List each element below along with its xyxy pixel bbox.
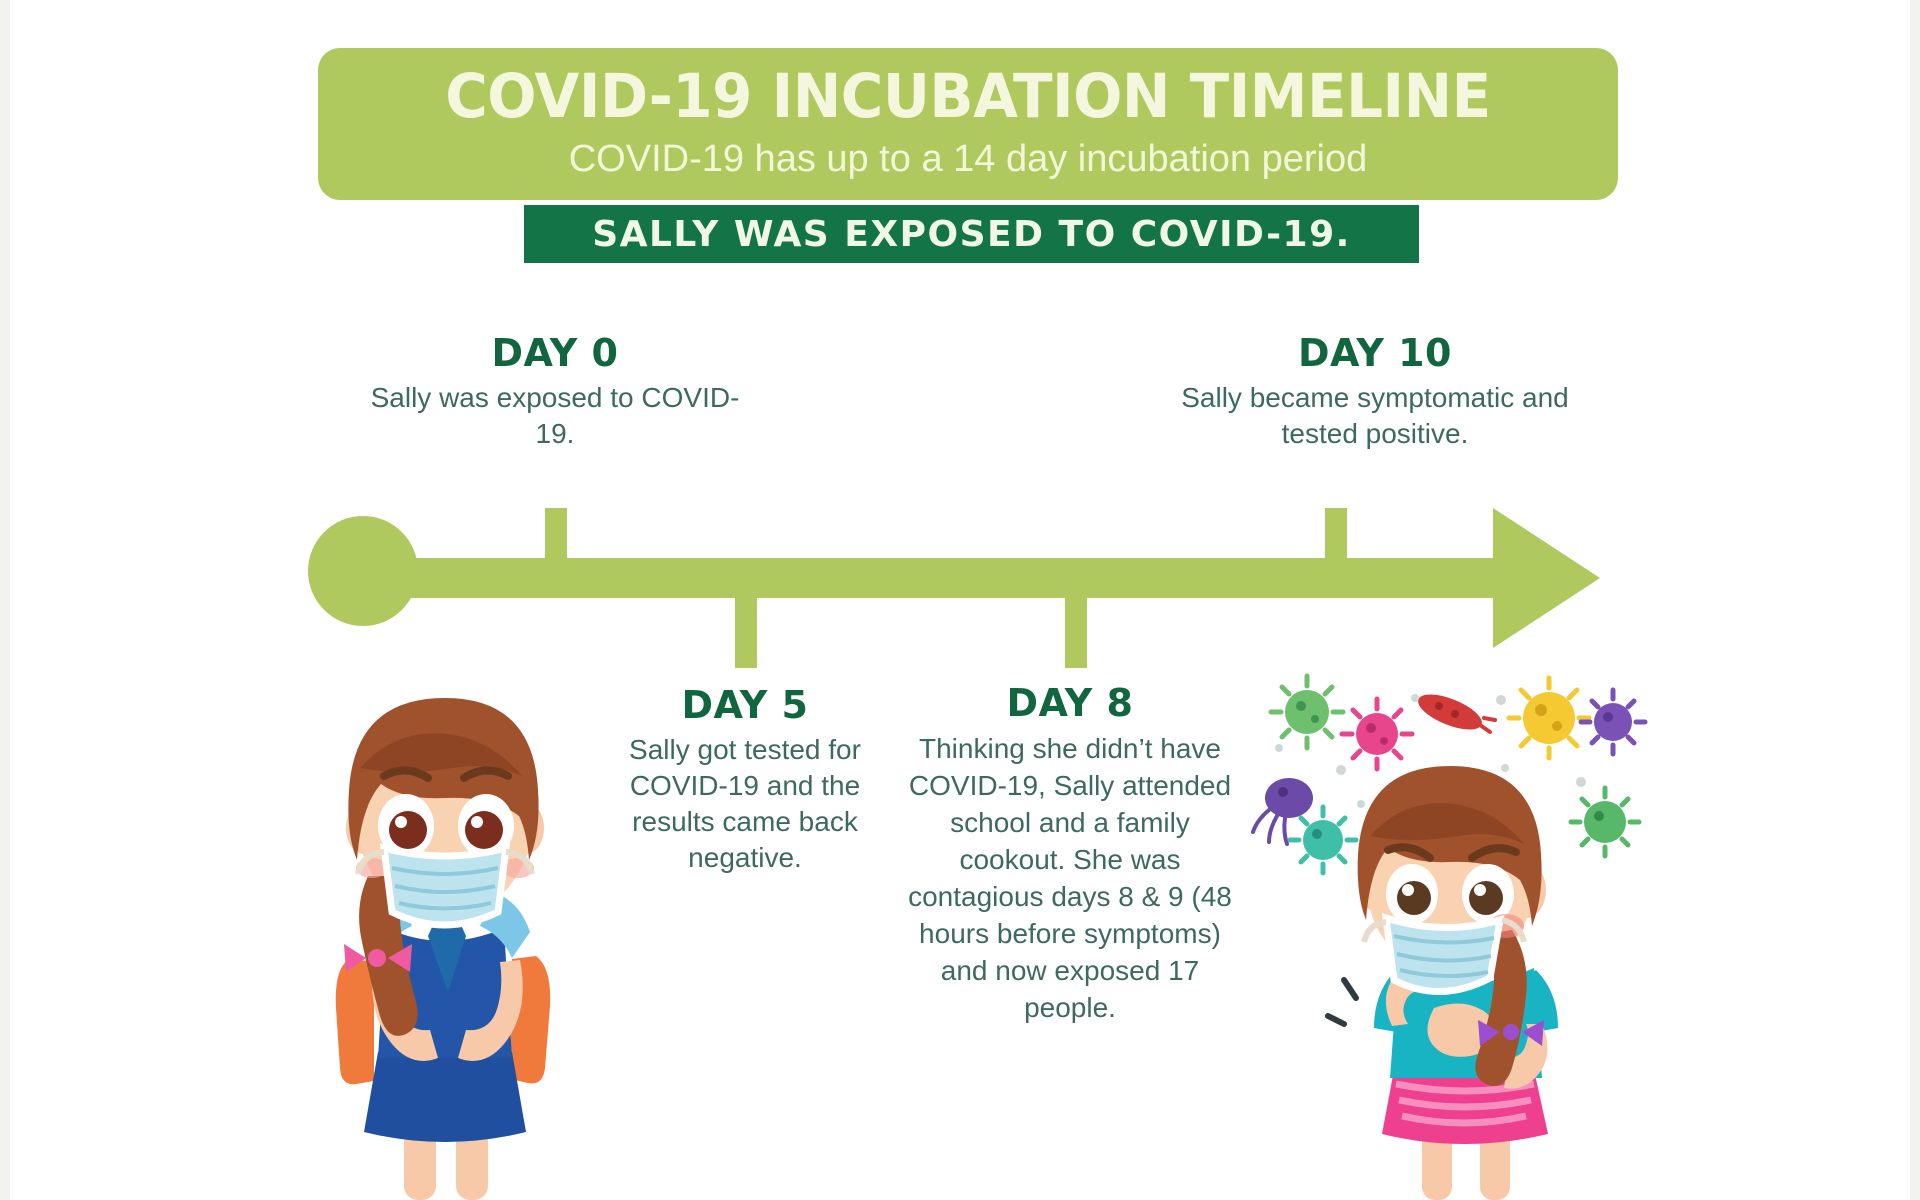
discomfort-lines [1328, 980, 1356, 1024]
right-gutter [1910, 0, 1920, 1200]
day-block-day-8: DAY 8 Thinking she didn’t have COVID-19,… [905, 680, 1235, 1026]
sick-braid-bow-knot [1503, 1024, 1519, 1040]
day-10-body: Sally became symptomatic and tested posi… [1175, 380, 1575, 452]
schoolgirl-illustration [300, 660, 590, 1200]
day-8-title: DAY 8 [905, 680, 1235, 726]
braid-bow-knot [368, 949, 386, 967]
eye-right-iris [465, 811, 503, 849]
sick-eye-left-iris [1397, 881, 1431, 915]
tick-day-10 [1325, 508, 1347, 586]
sick-girl-illustration [1330, 740, 1610, 1200]
sick-eye-right-highlight [1474, 884, 1486, 896]
tick-day-8 [1065, 590, 1087, 668]
exposure-banner: SALLY WAS EXPOSED TO COVID-19. [524, 205, 1419, 263]
eye-right-highlight [471, 816, 483, 828]
skirt [364, 1052, 526, 1142]
germ-green-1 [1271, 676, 1343, 748]
exposure-banner-label: SALLY WAS EXPOSED TO COVID-19. [592, 214, 1351, 255]
timeline-arrowhead [1493, 508, 1600, 648]
day-0-title: DAY 0 [355, 330, 755, 376]
backpack [336, 960, 374, 1084]
eye-left-highlight [395, 816, 407, 828]
title-card: COVID-19 INCUBATION TIMELINE COVID-19 ha… [318, 48, 1618, 200]
sick-eye-right-iris [1469, 881, 1503, 915]
day-10-title: DAY 10 [1175, 330, 1575, 376]
tick-day-0 [545, 508, 567, 586]
eye-left-iris [389, 811, 427, 849]
day-5-title: DAY 5 [590, 682, 900, 728]
day-block-day-10: DAY 10 Sally became symptomatic and test… [1175, 330, 1575, 452]
page-title: COVID-19 INCUBATION TIMELINE [351, 60, 1586, 134]
sick-eye-left-highlight [1402, 884, 1414, 896]
timeline-bar [340, 558, 1500, 598]
day-8-body: Thinking she didn’t have COVID-19, Sally… [905, 730, 1235, 1026]
day-0-body: Sally was exposed to COVID-19. [355, 380, 755, 452]
day-5-body: Sally got tested for COVID-19 and the re… [590, 732, 900, 876]
germ-red-rod [1414, 687, 1495, 737]
page-subtitle: COVID-19 has up to a 14 day incubation p… [318, 134, 1618, 184]
timeline-start-dot [308, 516, 418, 626]
day-block-day-5: DAY 5 Sally got tested for COVID-19 and … [590, 682, 900, 876]
left-gutter [0, 0, 10, 1200]
day-block-day-0: DAY 0 Sally was exposed to COVID-19. [355, 330, 755, 452]
tick-day-5 [735, 590, 757, 668]
infographic-canvas: COVID-19 INCUBATION TIMELINE COVID-19 ha… [0, 0, 1920, 1200]
